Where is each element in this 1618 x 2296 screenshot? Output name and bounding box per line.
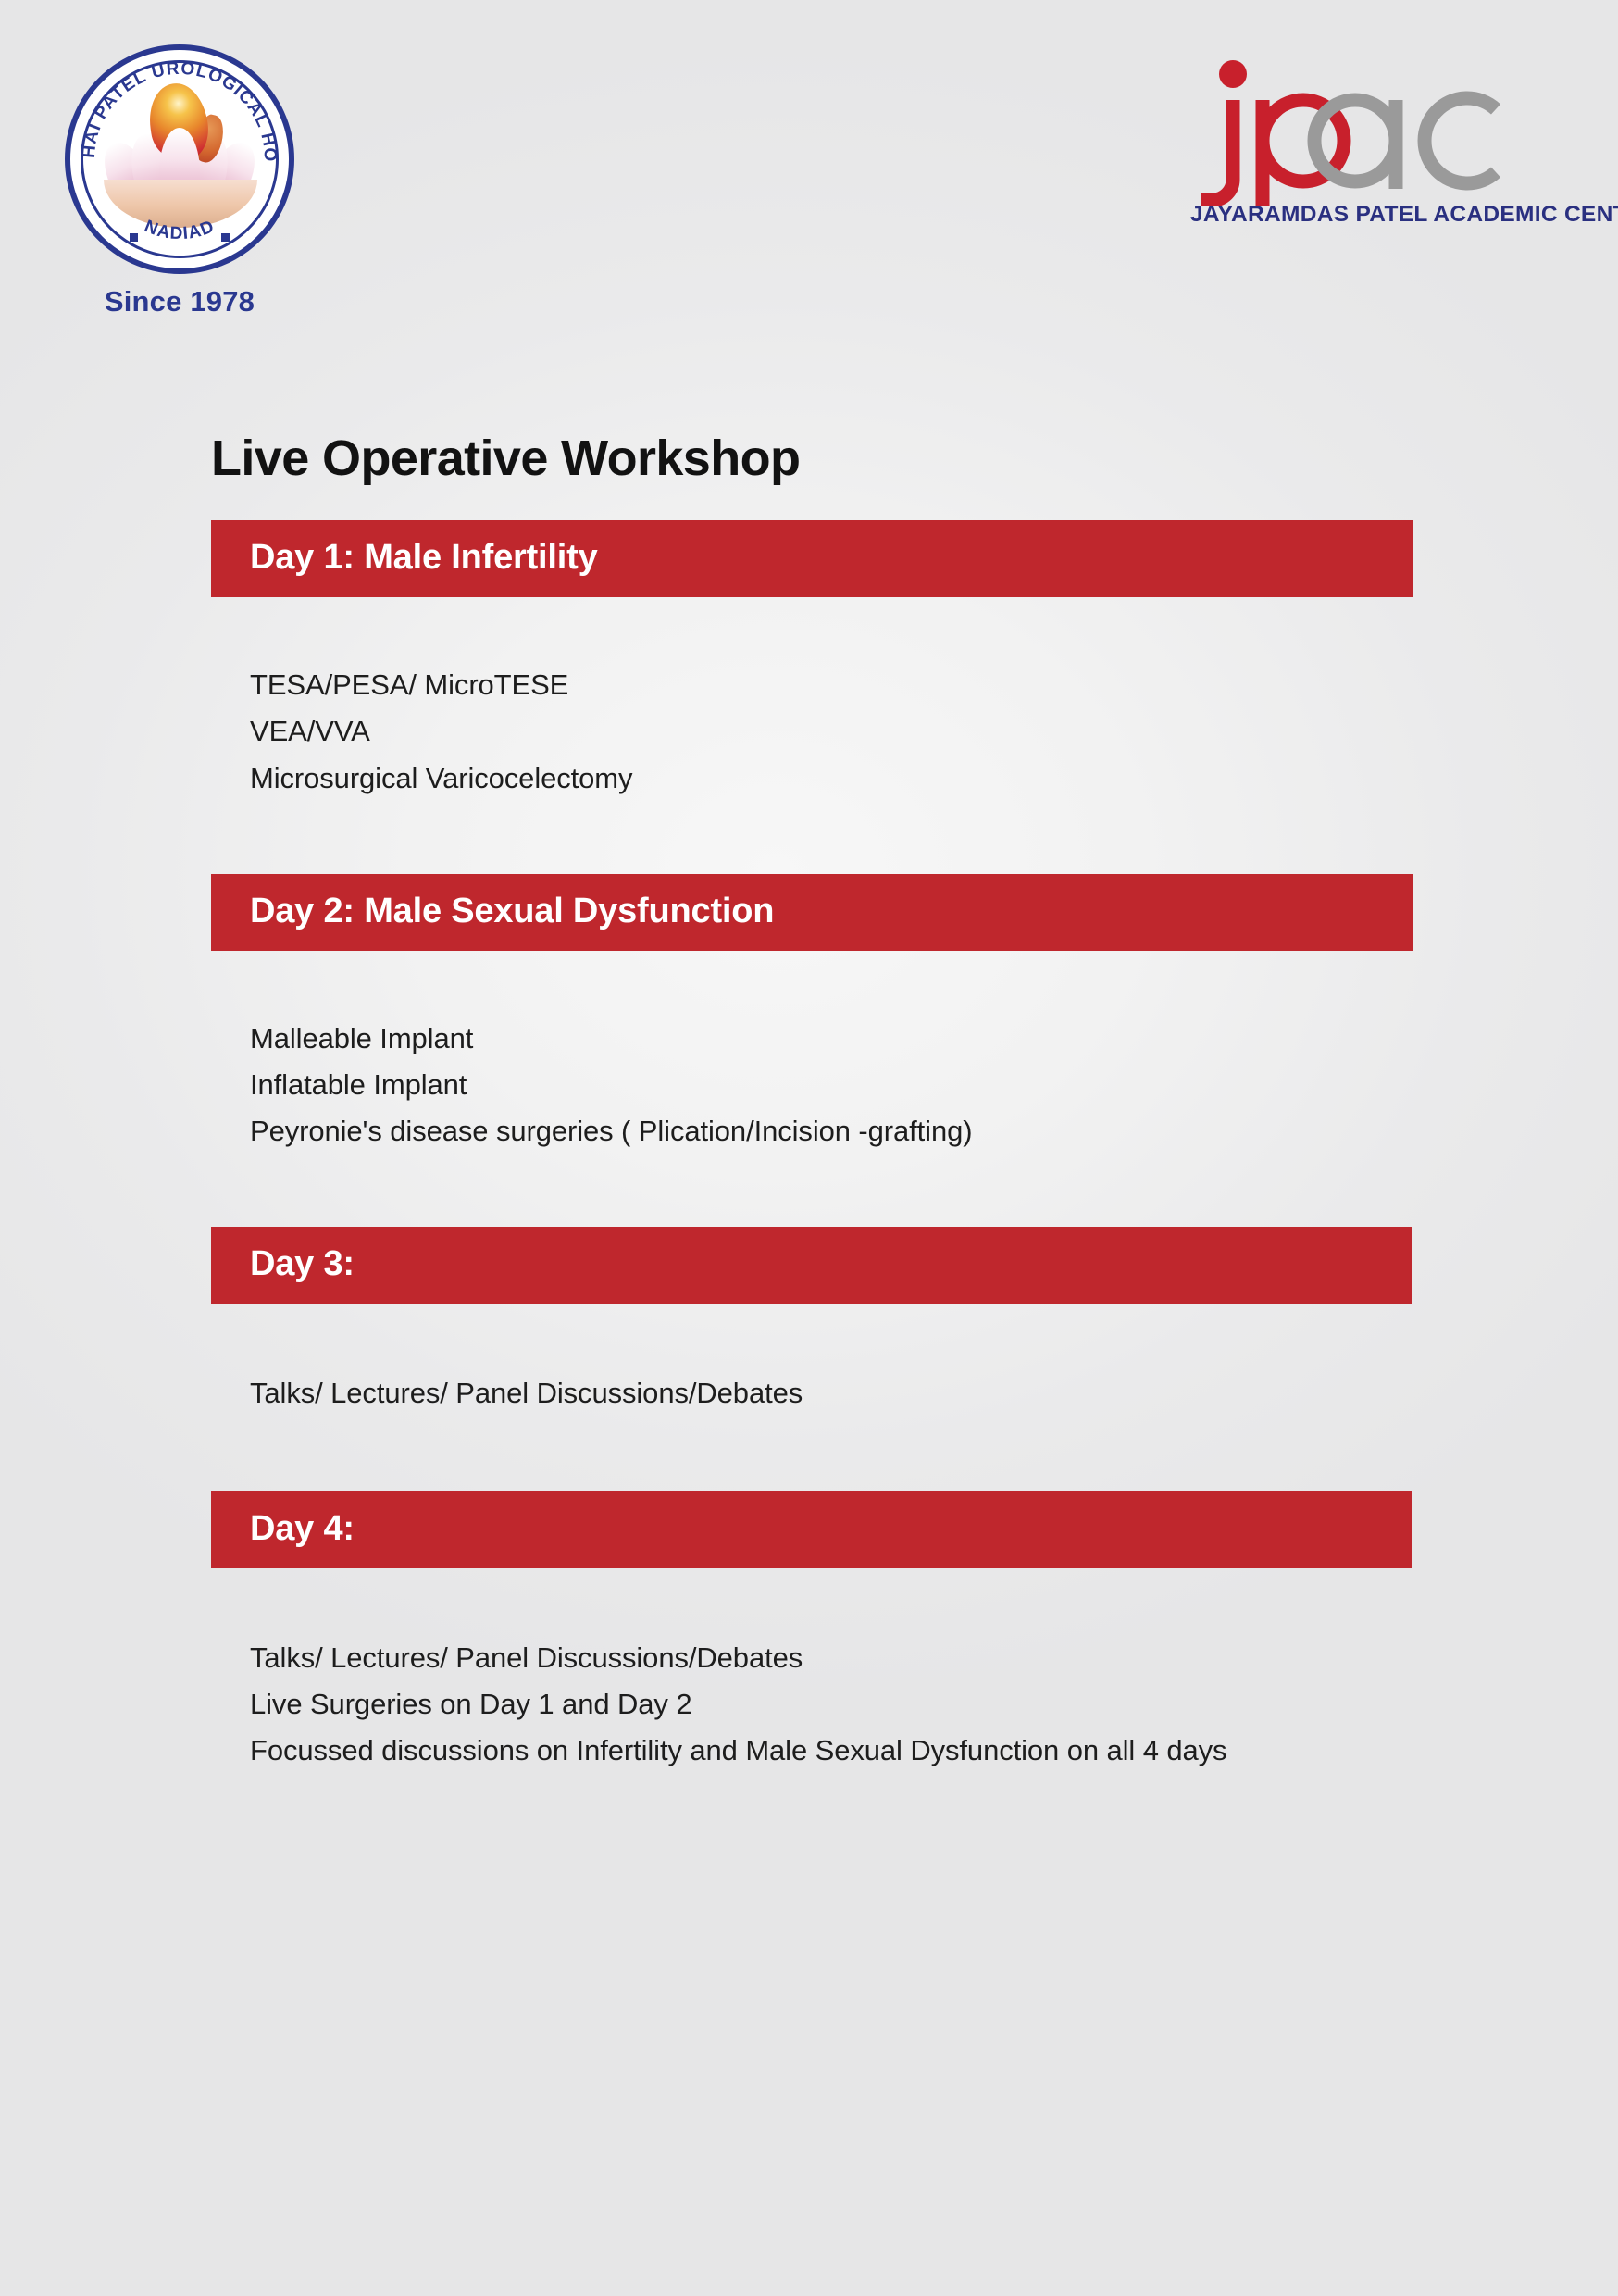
list-item: Microsurgical Varicocelectomy: [250, 755, 1413, 802]
jpac-wordmark-icon: [1190, 48, 1561, 206]
seal-square-dot-icon: [221, 233, 230, 242]
hospital-seal-icon: MULJIBHAI PATEL UROLOGICAL HOSPITAL NADI…: [65, 44, 294, 274]
list-item: Talks/ Lectures/ Panel Discussions/Debat…: [250, 1635, 1413, 1681]
day-item-list: Talks/ Lectures/ Panel Discussions/Debat…: [211, 1370, 1413, 1416]
day-section: Day 2: Male Sexual Dysfunction Malleable…: [211, 874, 1413, 1155]
day-item-list: Talks/ Lectures/ Panel Discussions/Debat…: [211, 1635, 1413, 1775]
list-item: VEA/VVA: [250, 708, 1413, 755]
list-item: Peyronie's disease surgeries ( Plication…: [250, 1108, 1413, 1154]
day-banner: Day 2: Male Sexual Dysfunction: [211, 874, 1413, 951]
day-section: Day 3: Talks/ Lectures/ Panel Discussion…: [211, 1227, 1413, 1416]
poster-content: Live Operative Workshop Day 1: Male Infe…: [211, 396, 1413, 1774]
day-banner: Day 1: Male Infertility: [211, 520, 1413, 597]
jpac-logo: JAYARAMDAS PATEL ACADEMIC CENTRE: [1190, 48, 1561, 228]
seal-text-top: MULJIBHAI PATEL UROLOGICAL HOSPITAL: [70, 50, 280, 163]
poster-header: MULJIBHAI PATEL UROLOGICAL HOSPITAL NADI…: [0, 0, 1618, 306]
seal-circular-text: MULJIBHAI PATEL UROLOGICAL HOSPITAL NADI…: [70, 50, 289, 268]
hospital-tagline: Since 1978: [56, 285, 304, 318]
list-item: Talks/ Lectures/ Panel Discussions/Debat…: [250, 1370, 1413, 1416]
list-item: Malleable Implant: [250, 1016, 1413, 1062]
list-item: TESA/PESA/ MicroTESE: [250, 662, 1413, 708]
hospital-logo: MULJIBHAI PATEL UROLOGICAL HOSPITAL NADI…: [56, 44, 304, 318]
day-banner: Day 4:: [211, 1491, 1412, 1568]
day-section: Day 1: Male Infertility TESA/PESA/ Micro…: [211, 520, 1413, 802]
day-banner: Day 3:: [211, 1227, 1412, 1304]
jpac-caption: JAYARAMDAS PATEL ACADEMIC CENTRE: [1190, 202, 1561, 228]
page-title: Live Operative Workshop: [211, 430, 1413, 487]
poster-page: MULJIBHAI PATEL UROLOGICAL HOSPITAL NADI…: [0, 0, 1618, 2296]
list-item: Live Surgeries on Day 1 and Day 2: [250, 1681, 1413, 1728]
day-item-list: TESA/PESA/ MicroTESE VEA/VVA Microsurgic…: [211, 662, 1413, 802]
day-section: Day 4: Talks/ Lectures/ Panel Discussion…: [211, 1491, 1413, 1775]
list-item: Focussed discussions on Infertility and …: [250, 1728, 1413, 1774]
day-item-list: Malleable Implant Inflatable Implant Pey…: [211, 1016, 1413, 1155]
list-item: Inflatable Implant: [250, 1062, 1413, 1108]
seal-text-bottom: NADIAD: [142, 217, 218, 243]
seal-square-dot-icon: [130, 233, 138, 242]
